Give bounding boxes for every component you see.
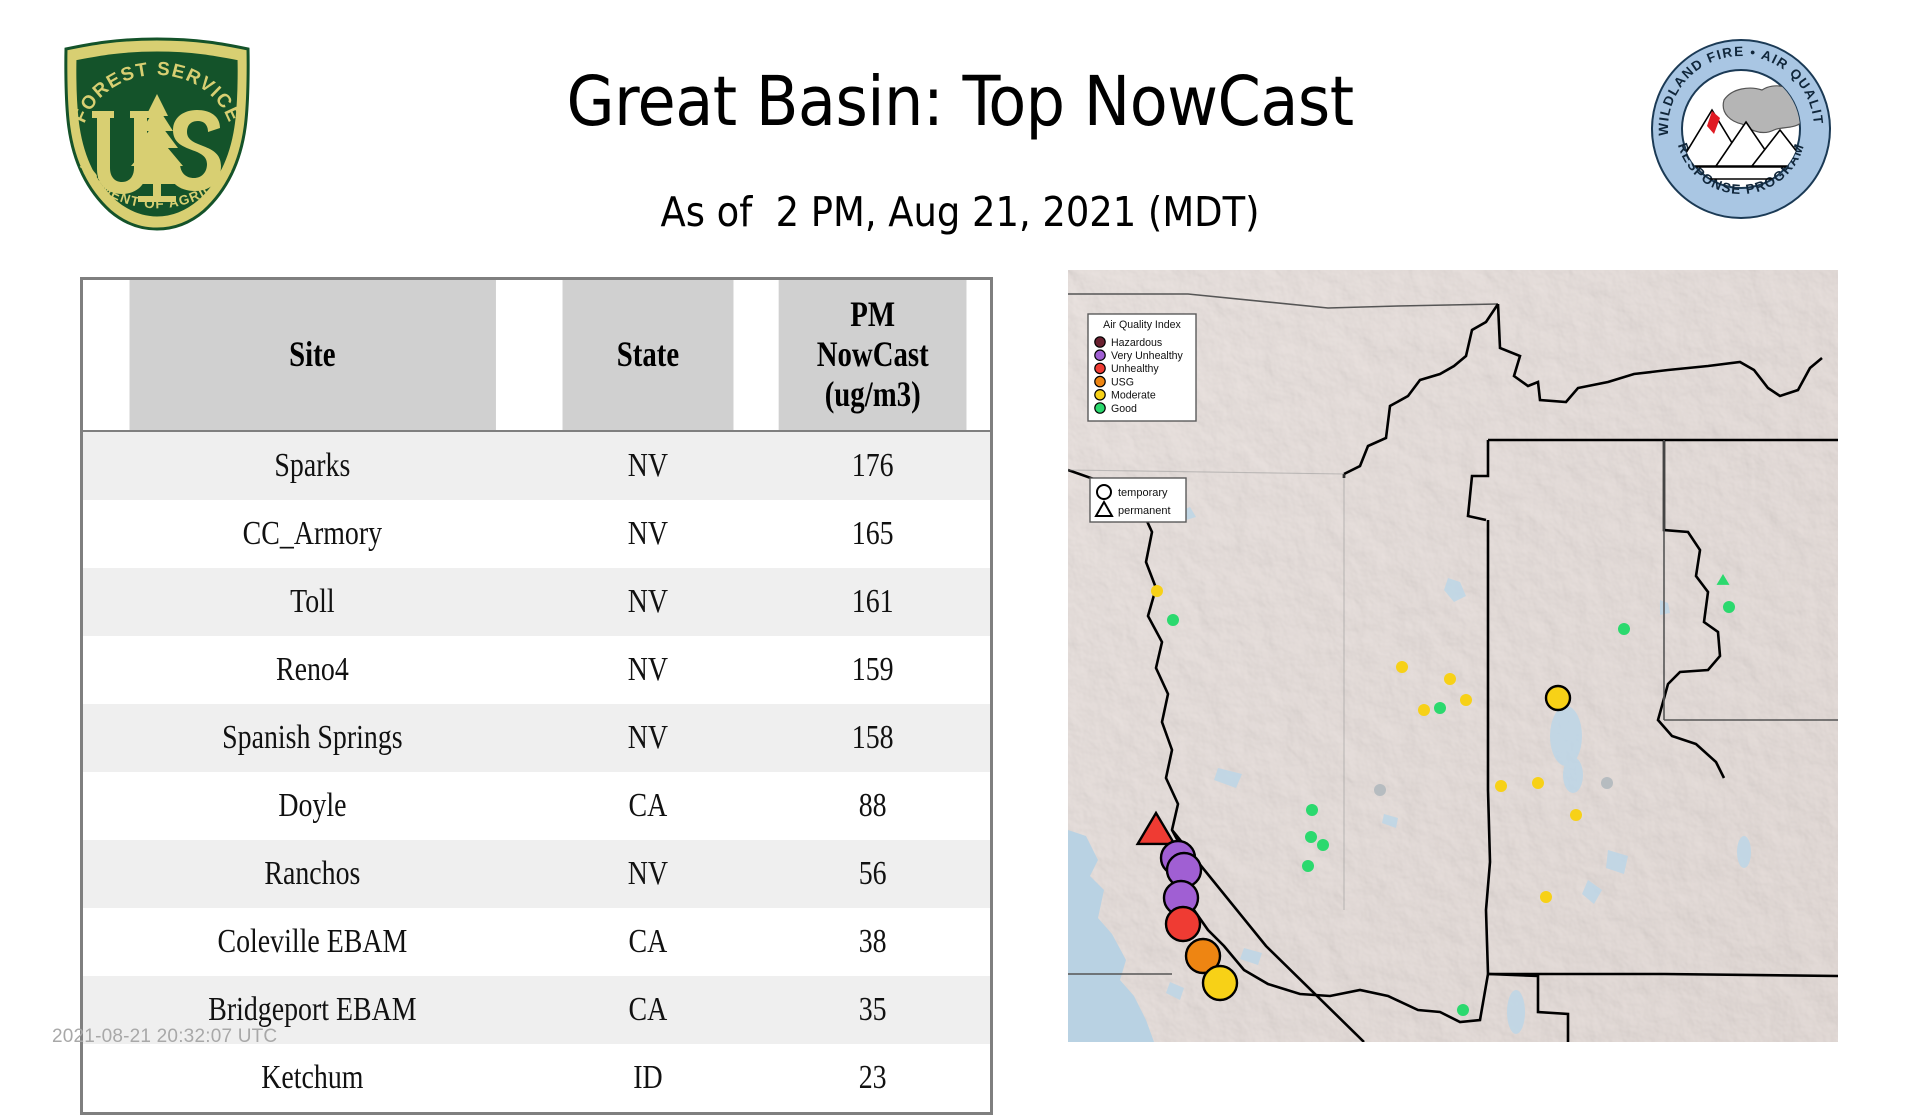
marker-moderate-idaho-3[interactable]	[1460, 694, 1472, 706]
site-type-label-permanent: permanent	[1118, 505, 1171, 517]
cell-pm_nowcast: 158	[776, 704, 970, 772]
cell-site: Doyle	[123, 772, 500, 840]
marker-moderate-nw[interactable]	[1151, 585, 1163, 597]
cell-site: CC_Armory	[123, 500, 500, 568]
cell-site: Coleville EBAM	[123, 908, 500, 976]
great-basin-aqi-map[interactable]: Air Quality Index HazardousVery Unhealth…	[1068, 270, 1838, 1042]
marker-moderate-coleville[interactable]	[1203, 966, 1237, 1000]
cell-site: Ketchum	[123, 1044, 500, 1114]
cell-pm_nowcast: 159	[776, 636, 970, 704]
table-row: TollNV161	[82, 568, 992, 636]
table-row: Coleville EBAMCA38	[82, 908, 992, 976]
table-row: SparksNV176	[82, 431, 992, 500]
marker-moderate-idaho-1[interactable]	[1396, 661, 1408, 673]
cell-pm_nowcast: 165	[776, 500, 970, 568]
cell-site: Spanish Springs	[123, 704, 500, 772]
cell-state: ID	[560, 1044, 735, 1114]
aqi-label-unhealthy: Unhealthy	[1111, 363, 1159, 375]
usfs-shield-logo: FOREST SERVICE DEPARTMENT OF AGRICULTURE	[52, 36, 262, 232]
aqi-label-moderate: Moderate	[1111, 390, 1156, 402]
marker-offline-1[interactable]	[1601, 777, 1613, 789]
aqi-label-good: Good	[1111, 403, 1137, 415]
marker-unhealthy-doyle[interactable]	[1166, 907, 1200, 941]
cell-state: NV	[560, 568, 735, 636]
column-header-pm-nowcast: PM NowCast (ug/m3)	[779, 279, 968, 432]
marker-moderate-4[interactable]	[1532, 777, 1544, 789]
cell-state: NV	[560, 500, 735, 568]
marker-good-s-nv-1[interactable]	[1457, 1004, 1469, 1016]
aqi-swatch-moderate	[1095, 390, 1105, 400]
cell-pm_nowcast: 56	[776, 840, 970, 908]
wfaqrp-roundel-logo: WILDLAND FIRE • AIR QUALITY RESPONSE PRO…	[1650, 38, 1832, 220]
marker-good-idaho-1[interactable]	[1723, 601, 1735, 613]
marker-moderate-idaho-2[interactable]	[1444, 673, 1456, 685]
aqi-swatch-usg	[1095, 376, 1105, 386]
marker-good-idaho-2[interactable]	[1618, 623, 1630, 635]
column-header-state: State	[562, 279, 733, 432]
aqi-label-very-unhealthy: Very Unhealthy	[1111, 350, 1184, 362]
site-type-legend: temporary permanent	[1090, 478, 1186, 522]
cell-state: CA	[560, 976, 735, 1044]
cell-state: CA	[560, 908, 735, 976]
table-row: RanchosNV56	[82, 840, 992, 908]
page-subtitle: As of 2 PM, Aug 21, 2021 (MDT)	[280, 188, 1640, 236]
marker-moderate-utah-2[interactable]	[1540, 891, 1552, 903]
cell-state: NV	[560, 636, 735, 704]
marker-good-nw[interactable]	[1167, 614, 1179, 626]
marker-offline-2[interactable]	[1374, 784, 1386, 796]
aqi-swatch-hazardous	[1095, 337, 1105, 347]
marker-moderate-5[interactable]	[1495, 780, 1507, 792]
cell-site: Sparks	[123, 431, 500, 500]
table-row: Reno4NV159	[82, 636, 992, 704]
generation-timestamp: 2021-08-21 20:32:07 UTC	[52, 1026, 277, 1048]
cell-site: Ranchos	[123, 840, 500, 908]
cell-state: NV	[560, 840, 735, 908]
marker-good-ne-nv-2[interactable]	[1317, 839, 1329, 851]
marker-good-ne-nv[interactable]	[1302, 860, 1314, 872]
table-row: CC_ArmoryNV165	[82, 500, 992, 568]
slide-canvas: FOREST SERVICE DEPARTMENT OF AGRICULTURE	[0, 0, 1920, 1080]
cell-state: CA	[560, 772, 735, 840]
cell-pm_nowcast: 38	[776, 908, 970, 976]
cell-pm_nowcast: 88	[776, 772, 970, 840]
page-title: Great Basin: Top NowCast	[280, 62, 1640, 142]
cell-pm_nowcast: 35	[776, 976, 970, 1044]
cell-pm_nowcast: 176	[776, 431, 970, 500]
column-header-site: Site	[127, 279, 495, 432]
marker-moderate-utah-1[interactable]	[1570, 809, 1582, 821]
aqi-label-hazardous: Hazardous	[1111, 337, 1162, 349]
aqi-legend-title: Air Quality Index	[1103, 319, 1181, 331]
cell-pm_nowcast: 23	[776, 1044, 970, 1114]
aqi-swatch-good	[1095, 403, 1105, 413]
top-nowcast-table: Site State PM NowCast (ug/m3) SparksNV17…	[80, 277, 993, 1115]
cell-state: NV	[560, 704, 735, 772]
table-row: DoyleCA88	[82, 772, 992, 840]
aqi-swatch-very-unhealthy	[1095, 350, 1105, 360]
cell-pm_nowcast: 161	[776, 568, 970, 636]
table-header-row: Site State PM NowCast (ug/m3)	[82, 279, 992, 432]
marker-good-idaho-3[interactable]	[1434, 702, 1446, 714]
cell-site: Toll	[123, 568, 500, 636]
aqi-label-usg: USG	[1111, 376, 1134, 388]
marker-good-ne-nv-3[interactable]	[1305, 831, 1317, 843]
table-row: KetchumID23	[82, 1044, 992, 1114]
aqi-legend: Air Quality Index HazardousVery Unhealth…	[1088, 314, 1196, 421]
marker-moderate-ketchum[interactable]	[1418, 704, 1430, 716]
site-type-label-temporary: temporary	[1118, 487, 1168, 499]
cell-site: Reno4	[123, 636, 500, 704]
marker-good-nevada-1[interactable]	[1306, 804, 1318, 816]
cell-state: NV	[560, 431, 735, 500]
aqi-swatch-unhealthy	[1095, 363, 1105, 373]
marker-moderate-large-idaho[interactable]	[1546, 686, 1570, 710]
table-row: Spanish SpringsNV158	[82, 704, 992, 772]
